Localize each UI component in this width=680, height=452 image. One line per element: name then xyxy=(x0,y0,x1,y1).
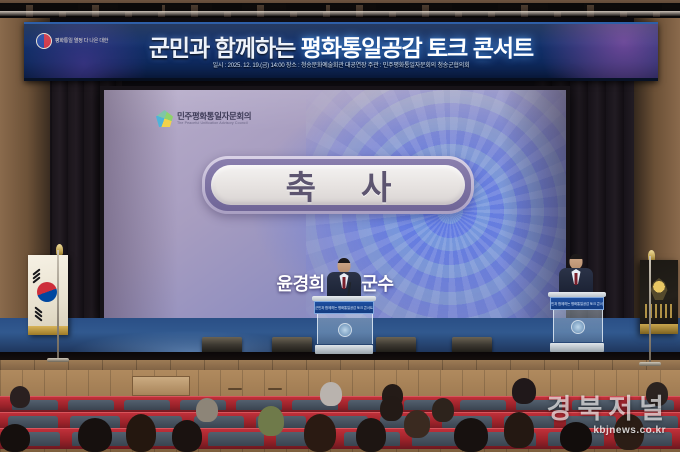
audience-head xyxy=(432,398,454,422)
flag-fringe xyxy=(640,324,678,334)
event-banner: 평화통일 열정 다 나은 대한 군민과 함께하는 평화통일공감 토크 콘서트 일… xyxy=(24,22,658,81)
audience-head xyxy=(304,414,336,452)
podium-emblem-icon xyxy=(338,323,352,337)
banner-subtitle: 일시 : 2025. 12. 19.(금) 14:00 장소 : 청송문화예술회… xyxy=(24,60,658,69)
podium-base xyxy=(315,345,374,354)
seat xyxy=(208,432,264,446)
watermark-logo: 경북저널 xyxy=(547,387,670,426)
audience-head xyxy=(512,378,536,404)
flag-pole xyxy=(57,250,59,360)
wall-vent-slot xyxy=(228,388,242,390)
speaker-head xyxy=(338,258,351,273)
slide-plaque-ring: 축 사 xyxy=(205,159,471,211)
speaker-tie xyxy=(575,273,578,285)
county-emblem-icon xyxy=(649,278,669,300)
wall-vent-slot xyxy=(268,388,282,390)
audience-head xyxy=(0,424,30,452)
audience-head xyxy=(356,418,386,452)
audience-head xyxy=(560,422,592,452)
podium-base xyxy=(550,343,603,352)
audience-head xyxy=(454,418,488,452)
podium-right: 군민과 함께하는 평화통일공감 토크 콘서트 xyxy=(548,292,606,352)
puac-logo-english: The Peaceful Unification Advisory Counci… xyxy=(177,122,251,126)
podium-body xyxy=(317,314,373,344)
banner-title-part1: 군민과 함께하는 xyxy=(149,35,296,61)
podium-emblem-icon xyxy=(571,320,585,334)
flag-fringe xyxy=(28,326,68,335)
banner-title: 군민과 함께하는 평화통일공감 토크 콘서트 xyxy=(24,29,658,63)
taeguk-circle-icon xyxy=(37,282,57,302)
audience-head xyxy=(404,410,430,438)
audience-head xyxy=(78,418,112,452)
podium-sign-right: 군민과 함께하는 평화통일공감 토크 콘서트 xyxy=(550,297,604,310)
flag-pole xyxy=(649,256,651,364)
podium-center: 군민과 함께하는 평화통일공감 토크 콘서트 xyxy=(312,296,376,354)
puac-emblem-icon xyxy=(156,110,173,127)
podium-body xyxy=(553,310,604,342)
audience-head xyxy=(196,398,218,422)
slide-plaque-inner: 축 사 xyxy=(211,165,465,205)
audience-head xyxy=(10,386,30,408)
county-flag xyxy=(640,260,678,334)
seat xyxy=(68,400,114,410)
puac-logo-korean: 민주평화통일자문회의 xyxy=(177,112,251,121)
audience-head xyxy=(320,382,342,406)
watermark-url: kbjnews.co.kr xyxy=(593,425,666,436)
slide-plaque: 축 사 xyxy=(202,156,474,214)
slide-title-char-1: 축 xyxy=(286,161,315,209)
audience-head xyxy=(126,414,156,452)
speaker-head xyxy=(570,254,583,269)
flag-stand-base xyxy=(47,358,69,362)
speaker-tie xyxy=(343,277,346,289)
seat xyxy=(460,400,506,410)
ceiling-glow xyxy=(0,11,680,16)
slide-title-char-2: 사 xyxy=(361,161,390,209)
event-photo: 평화통일 열정 다 나은 대한 군민과 함께하는 평화통일공감 토크 콘서트 일… xyxy=(0,0,680,452)
banner-date: 일시 : 2025. 12. 19.(금) 14:00 장소 : 청송문화예술회… xyxy=(213,63,470,69)
audience-head xyxy=(380,396,403,421)
banner-title-part2: 평화통일공감 토크 콘서트 xyxy=(301,35,534,61)
seat xyxy=(124,400,170,410)
podium-sign-center: 군민과 함께하는 평화통일공감 토크 콘서트 xyxy=(314,301,374,314)
audience-head xyxy=(504,412,534,448)
wall-door-panel xyxy=(132,376,190,396)
flag-stand-base xyxy=(639,362,661,366)
audience-head xyxy=(258,406,284,436)
audience-head xyxy=(172,420,202,452)
puac-logo: 민주평화통일자문회의 The Peaceful Unification Advi… xyxy=(156,110,251,127)
taegukgi-flag xyxy=(28,255,68,335)
